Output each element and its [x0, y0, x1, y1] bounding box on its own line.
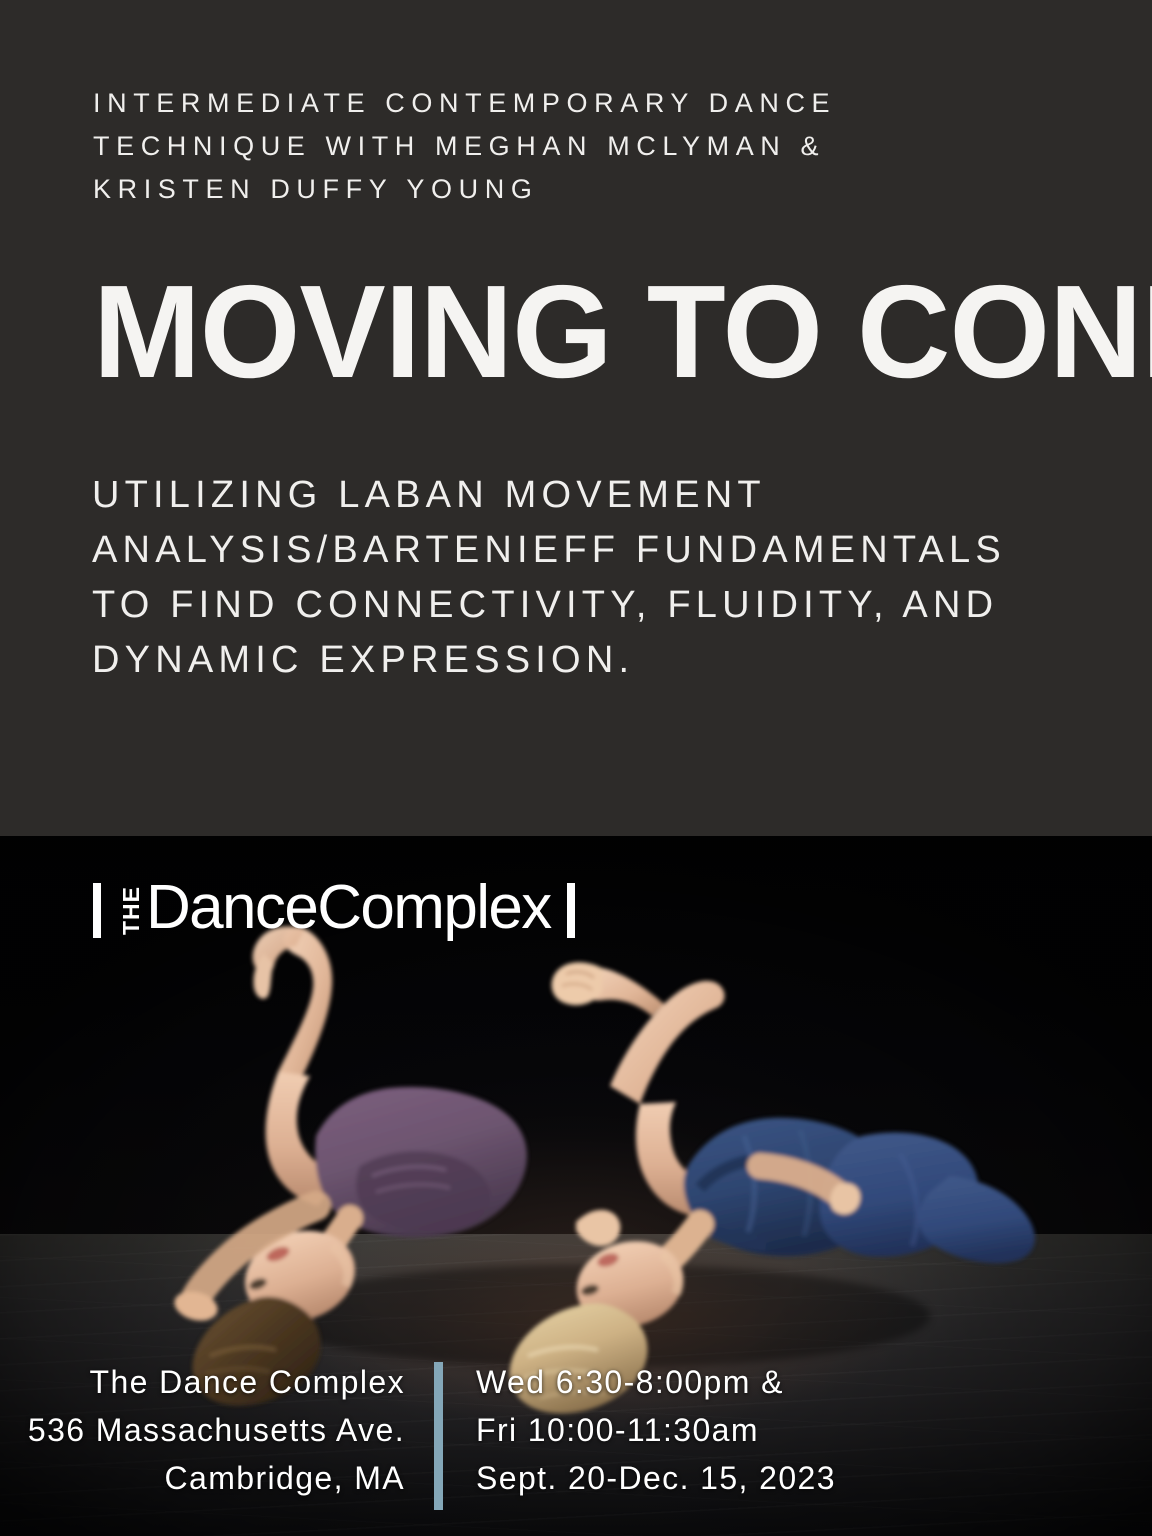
- logo-the-text: THE: [120, 886, 143, 935]
- poster-footer: The Dance Complex 536 Massachusetts Ave.…: [0, 1358, 1152, 1510]
- logo-bar-right-icon: [567, 883, 575, 938]
- page-title: Moving to Connect: [93, 272, 1073, 392]
- logo-bar-left-icon: [93, 883, 101, 938]
- poster-header-section: Intermediate Contemporary Dance Techniqu…: [0, 0, 1152, 836]
- poster: Intermediate Contemporary Dance Techniqu…: [0, 0, 1152, 1536]
- logo-name-text: DanceComplex: [146, 877, 551, 939]
- schedule-dates: Wed 6:30-8:00pm & Fri 10:00-11:30am Sept…: [476, 1358, 836, 1502]
- dance-complex-logo[interactable]: THE DanceComplex: [93, 878, 575, 942]
- venue-address: The Dance Complex 536 Massachusetts Ave.…: [0, 1358, 405, 1502]
- class-description: Utilizing Laban Movement Analysis/Barten…: [92, 468, 1032, 688]
- class-kicker: Intermediate Contemporary Dance Techniqu…: [93, 82, 993, 211]
- footer-divider: [434, 1362, 443, 1510]
